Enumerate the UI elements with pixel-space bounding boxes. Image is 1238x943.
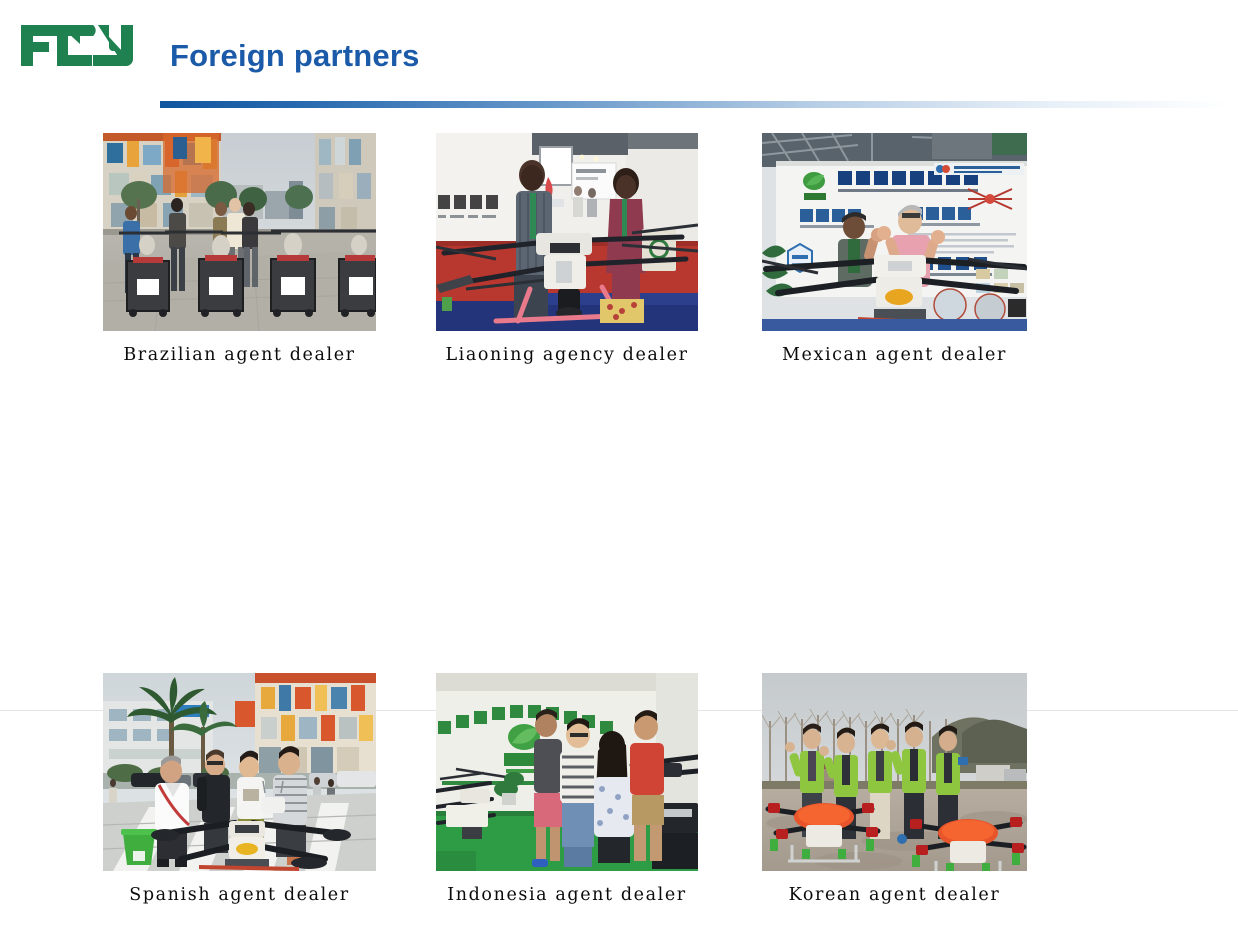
gallery-row: Spanish agent dealer — [0, 673, 1238, 943]
photo-caption: Mexican agent dealer — [762, 345, 1027, 365]
photo-liaoning-agency-dealer — [436, 133, 698, 331]
fny-logo — [18, 18, 138, 72]
gallery-card[interactable]: Liaoning agency dealer — [436, 133, 698, 365]
photo-indonesia-agent-dealer — [436, 673, 698, 871]
gallery-card[interactable]: Spanish agent dealer — [103, 673, 376, 905]
photo-caption: Brazilian agent dealer — [103, 345, 376, 365]
photo-korean-agent-dealer — [762, 673, 1027, 871]
photo-mexican-agent-dealer — [762, 133, 1027, 331]
gallery-card[interactable]: Brazilian agent dealer — [103, 133, 376, 365]
gallery-card[interactable]: Korean agent dealer — [762, 673, 1027, 905]
page-title: Foreign partners — [170, 38, 420, 74]
title-underline-rule — [160, 101, 1229, 108]
photo-caption: Indonesia agent dealer — [436, 885, 698, 905]
photo-caption: Spanish agent dealer — [103, 885, 376, 905]
photo-spanish-agent-dealer — [103, 673, 376, 871]
gallery-card[interactable]: Mexican agent dealer — [762, 133, 1027, 365]
photo-brazilian-agent-dealer — [103, 133, 376, 331]
photo-caption: Korean agent dealer — [762, 885, 1027, 905]
partner-photo-gallery: Brazilian agent dealer — [0, 133, 1238, 673]
photo-caption: Liaoning agency dealer — [436, 345, 698, 365]
gallery-row: Brazilian agent dealer — [0, 133, 1238, 403]
gallery-card[interactable]: Indonesia agent dealer — [436, 673, 698, 905]
